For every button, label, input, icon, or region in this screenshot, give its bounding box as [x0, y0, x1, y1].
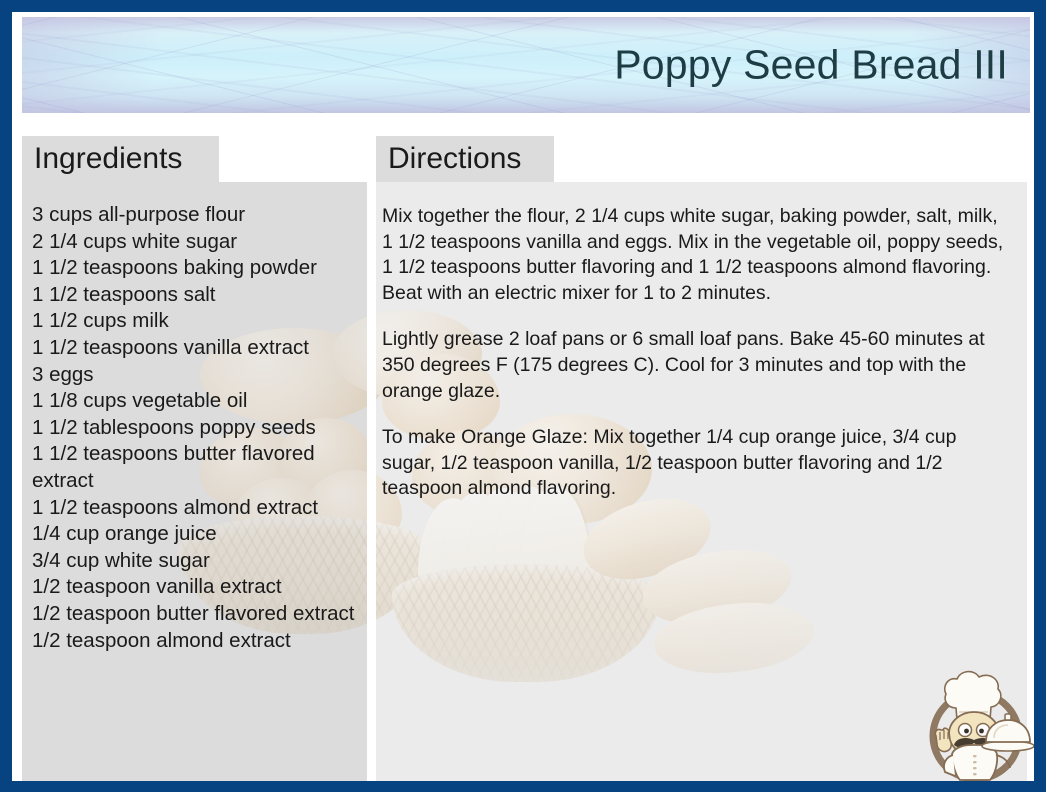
ingredient-item: 1 1/2 teaspoons salt [32, 282, 357, 309]
recipe-page: Poppy Seed Bread III Ingredients [12, 12, 1034, 781]
ingredient-item: 1/2 teaspoon almond extract [32, 628, 357, 655]
directions-paragraph: Lightly grease 2 loaf pans or 6 small lo… [382, 327, 1013, 404]
ingredient-item: 1 1/8 cups vegetable oil [32, 388, 357, 415]
chef-mascot-logo [916, 660, 1034, 781]
directions-text: Mix together the flour, 2 1/4 cups white… [376, 182, 1027, 502]
ingredient-item: 1 1/2 teaspoons butter flavored extract [32, 441, 357, 494]
recipe-title: Poppy Seed Bread III [614, 42, 1008, 89]
directions-heading: Directions [376, 136, 554, 182]
directions-paragraph: Mix together the flour, 2 1/4 cups white… [382, 204, 1013, 306]
directions-paragraph: To make Orange Glaze: Mix together 1/4 c… [382, 425, 1013, 502]
ingredient-item: 1 1/2 teaspoons vanilla extract [32, 335, 357, 362]
ingredients-panel: 3 cups all-purpose flour 2 1/4 cups whit… [22, 182, 367, 781]
ingredient-item: 1/4 cup orange juice [32, 521, 357, 548]
ingredient-item: 3 cups all-purpose flour [32, 202, 357, 229]
ingredient-item: 1 1/2 cups milk [32, 308, 357, 335]
header-banner: Poppy Seed Bread III [22, 17, 1030, 113]
ingredients-list: 3 cups all-purpose flour 2 1/4 cups whit… [22, 182, 367, 654]
ingredients-heading: Ingredients [22, 136, 219, 182]
ingredient-item: 2 1/4 cups white sugar [32, 229, 357, 256]
ingredient-item: 1/2 teaspoon butter flavored extract [32, 601, 357, 628]
ingredient-item: 3 eggs [32, 362, 357, 389]
recipe-card: Poppy Seed Bread III Ingredients [0, 0, 1046, 792]
ingredient-item: 1 1/2 teaspoons almond extract [32, 495, 357, 522]
ingredient-item: 1 1/2 tablespoons poppy seeds [32, 415, 357, 442]
ingredient-item: 1/2 teaspoon vanilla extract [32, 574, 357, 601]
ingredient-item: 1 1/2 teaspoons baking powder [32, 255, 357, 282]
ingredient-item: 3/4 cup white sugar [32, 548, 357, 575]
